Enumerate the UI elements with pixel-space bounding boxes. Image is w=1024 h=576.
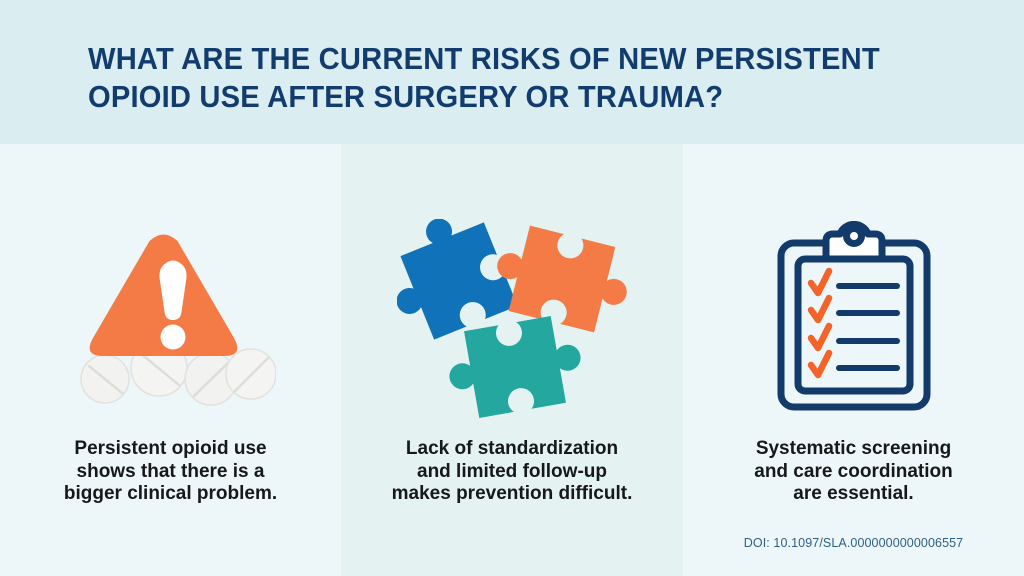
warning-triangle-shape	[89, 235, 237, 357]
caption-risks: Persistent opioid use shows that there i…	[0, 438, 341, 506]
column-risks: Persistent opioid use shows that there i…	[0, 144, 341, 576]
clipboard-outer-frame	[781, 243, 927, 407]
page-title: WHAT ARE THE CURRENT RISKS OF NEW PERSIS…	[88, 40, 906, 116]
infographic-poster: WHAT ARE THE CURRENT RISKS OF NEW PERSIS…	[0, 0, 1024, 576]
icon-area-1	[0, 204, 341, 434]
checklist-checkmarks	[811, 271, 829, 375]
checklist-lines	[839, 286, 897, 368]
caption-standardization: Lack of standardization and limited foll…	[341, 438, 683, 506]
columns-container: Persistent opioid use shows that there i…	[0, 144, 1024, 576]
puzzle-piece-blue	[397, 219, 518, 348]
clipboard-clip-ring	[846, 229, 861, 244]
caption-screening: Systematic screening and care coordinati…	[683, 438, 1024, 506]
exclamation-dot	[160, 325, 185, 350]
icon-area-2	[341, 204, 683, 434]
icon-area-3	[683, 204, 1024, 434]
puzzle-pieces-icon	[397, 219, 627, 419]
header-band: WHAT ARE THE CURRENT RISKS OF NEW PERSIS…	[0, 0, 1024, 144]
puzzle-piece-teal	[442, 312, 588, 419]
column-screening: Systematic screening and care coordinati…	[683, 144, 1024, 576]
clipboard-checklist-icon	[768, 221, 940, 417]
puzzle-piece-orange	[487, 220, 627, 338]
doi-reference: DOI: 10.1097/SLA.0000000000006557	[683, 536, 1024, 550]
warning-triangle-with-pills-icon	[66, 219, 276, 419]
column-standardization: Lack of standardization and limited foll…	[341, 144, 683, 576]
